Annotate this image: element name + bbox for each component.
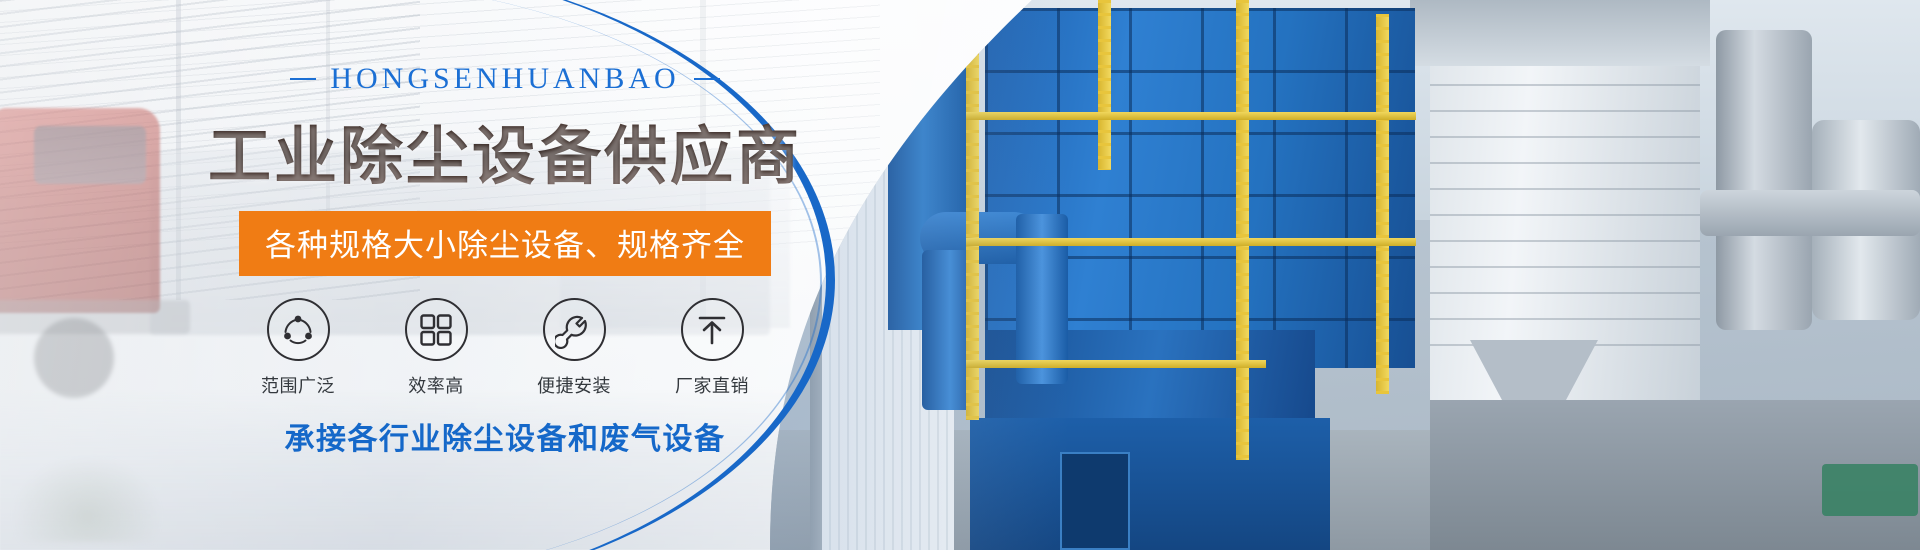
- page-title: 工业除尘设备供应商: [208, 106, 802, 197]
- feature-label: 厂家直销: [675, 372, 749, 398]
- banner-content: HONGSENHUANBAO 工业除尘设备供应商 各种规格大小除尘设备、规格齐全: [0, 0, 1010, 550]
- feature-icon-ring: [681, 298, 744, 361]
- eyebrow-line: HONGSENHUANBAO: [290, 62, 719, 96]
- feature-item-installation[interactable]: 便捷安装: [529, 298, 619, 398]
- eyebrow-text: HONGSENHUANBAO: [330, 62, 679, 96]
- feature-icon-ring: [405, 298, 468, 361]
- grid-four-squares-icon: [419, 313, 453, 347]
- feature-icon-ring: [543, 298, 606, 361]
- dash-left-icon: [290, 78, 316, 80]
- feature-list: 范围广泛 效率高: [253, 298, 757, 398]
- feature-label: 效率高: [408, 372, 464, 398]
- hero-banner: HONGSENHUANBAO 工业除尘设备供应商 各种规格大小除尘设备、规格齐全: [0, 0, 1920, 550]
- subtitle-banner: 各种规格大小除尘设备、规格齐全: [239, 211, 771, 276]
- feature-label: 便捷安装: [537, 372, 611, 398]
- tagline-text: 承接各行业除尘设备和废气设备: [285, 414, 726, 458]
- wrench-icon: [555, 311, 593, 349]
- feature-item-factory-direct[interactable]: 厂家直销: [667, 298, 757, 398]
- feature-label: 范围广泛: [261, 372, 335, 398]
- arrow-up-bar-icon: [695, 313, 729, 347]
- feature-icon-ring: [267, 298, 330, 361]
- feature-item-efficiency[interactable]: 效率高: [391, 298, 481, 398]
- feature-item-scope[interactable]: 范围广泛: [253, 298, 343, 398]
- dash-right-icon: [694, 78, 720, 80]
- network-nodes-icon: [279, 311, 317, 349]
